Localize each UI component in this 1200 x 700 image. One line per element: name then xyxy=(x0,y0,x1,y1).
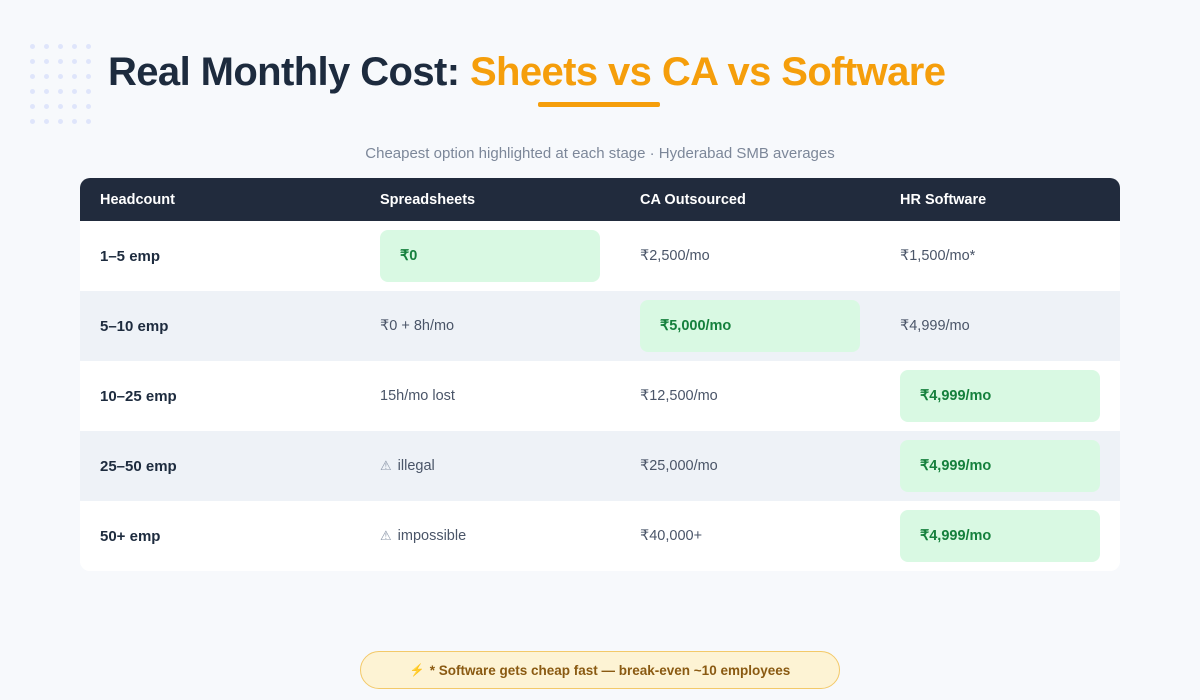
cell-spreadsheets: 15h/mo lost xyxy=(360,388,620,404)
cell-text: ₹0 + 8h/mo xyxy=(380,318,454,334)
dot xyxy=(30,104,35,109)
table-row: 25–50 emp⚠illegal₹25,000/mo₹4,999/mo xyxy=(80,431,1120,501)
warning-triangle-icon: ⚠ xyxy=(380,458,392,473)
table-row: 10–25 emp15h/mo lost₹12,500/mo₹4,999/mo xyxy=(80,361,1120,431)
column-header-hr-software: HR Software xyxy=(880,192,1120,208)
dot xyxy=(58,119,63,124)
cell-spreadsheets: ₹0 xyxy=(360,230,620,282)
dot xyxy=(72,89,77,94)
dot xyxy=(86,44,91,49)
cell-hr_software: ₹4,999/mo xyxy=(880,510,1120,562)
footer-note-badge: ⚡ * Software gets cheap fast — break-eve… xyxy=(360,651,840,689)
dot xyxy=(72,119,77,124)
warning-triangle-icon: ⚠ xyxy=(380,528,392,543)
cell-hr_software: ₹4,999/mo xyxy=(880,370,1120,422)
dot xyxy=(44,74,49,79)
cell-text: 50+ emp xyxy=(100,528,160,545)
dot xyxy=(30,74,35,79)
dot xyxy=(86,74,91,79)
lightning-bolt-icon: ⚡ xyxy=(410,663,425,677)
cell-text: ₹4,999/mo xyxy=(900,318,970,334)
cell-text: impossible xyxy=(398,528,467,544)
dot xyxy=(72,74,77,79)
cell-text: ₹2,500/mo xyxy=(640,248,710,264)
cell-hr_software: ₹1,500/mo* xyxy=(880,248,1120,264)
page-subtitle: Cheapest option highlighted at each stag… xyxy=(0,145,1200,162)
dot xyxy=(44,104,49,109)
dot xyxy=(58,74,63,79)
cell-headcount: 5–10 emp xyxy=(80,318,360,335)
dot xyxy=(30,89,35,94)
cheapest-highlight-pill: ₹5,000/mo xyxy=(640,300,860,352)
cell-text: 15h/mo lost xyxy=(380,388,455,404)
dot xyxy=(30,44,35,49)
title-underline-bar xyxy=(538,102,660,107)
table-header-row: Headcount Spreadsheets CA Outsourced HR … xyxy=(80,178,1120,221)
dot xyxy=(86,59,91,64)
cell-spreadsheets: ⚠illegal xyxy=(360,458,620,474)
infographic-page: Real Monthly Cost: Sheets vs CA vs Softw… xyxy=(0,0,1200,700)
cost-comparison-table: Headcount Spreadsheets CA Outsourced HR … xyxy=(80,178,1120,571)
dot xyxy=(86,119,91,124)
cell-spreadsheets: ₹0 + 8h/mo xyxy=(360,318,620,334)
page-title-main: Real Monthly Cost: xyxy=(108,50,459,94)
cell-text: 5–10 emp xyxy=(100,318,168,335)
column-header-ca-outsourced: CA Outsourced xyxy=(620,192,880,208)
cell-text: ₹1,500/mo* xyxy=(900,248,975,264)
cell-hr_software: ₹4,999/mo xyxy=(880,440,1120,492)
cell-text: 25–50 emp xyxy=(100,458,177,475)
dot xyxy=(58,89,63,94)
cell-ca_outsourced: ₹25,000/mo xyxy=(620,458,880,474)
cheapest-highlight-pill: ₹4,999/mo xyxy=(900,440,1100,492)
cell-headcount: 25–50 emp xyxy=(80,458,360,475)
dot xyxy=(58,59,63,64)
dot xyxy=(44,89,49,94)
cell-headcount: 10–25 emp xyxy=(80,388,360,405)
dot xyxy=(30,119,35,124)
cell-ca_outsourced: ₹40,000+ xyxy=(620,528,880,544)
table-body: 1–5 emp₹0₹2,500/mo₹1,500/mo*5–10 emp₹0 +… xyxy=(80,221,1120,571)
dot xyxy=(86,89,91,94)
cheapest-highlight-pill: ₹0 xyxy=(380,230,600,282)
cell-text: ₹40,000+ xyxy=(640,528,702,544)
page-title: Real Monthly Cost: Sheets vs CA vs Softw… xyxy=(108,50,1148,94)
page-title-accent: Sheets vs CA vs Software xyxy=(470,50,945,94)
cell-text: ₹12,500/mo xyxy=(640,388,718,404)
cell-headcount: 50+ emp xyxy=(80,528,360,545)
cell-spreadsheets: ⚠impossible xyxy=(360,528,620,544)
dot xyxy=(72,104,77,109)
decorative-dot-grid xyxy=(30,44,100,134)
dot xyxy=(44,44,49,49)
dot xyxy=(44,119,49,124)
cell-text: illegal xyxy=(398,458,435,474)
dot xyxy=(72,59,77,64)
cell-headcount: 1–5 emp xyxy=(80,248,360,265)
cell-ca_outsourced: ₹12,500/mo xyxy=(620,388,880,404)
dot xyxy=(30,59,35,64)
cell-text: 10–25 emp xyxy=(100,388,177,405)
cell-text: 1–5 emp xyxy=(100,248,160,265)
dot xyxy=(58,104,63,109)
cheapest-highlight-pill: ₹4,999/mo xyxy=(900,370,1100,422)
dot xyxy=(86,104,91,109)
cell-ca_outsourced: ₹2,500/mo xyxy=(620,248,880,264)
cell-hr_software: ₹4,999/mo xyxy=(880,318,1120,334)
table-row: 5–10 emp₹0 + 8h/mo₹5,000/mo₹4,999/mo xyxy=(80,291,1120,361)
footer-note-text: * Software gets cheap fast — break-even … xyxy=(430,663,791,678)
cheapest-highlight-pill: ₹4,999/mo xyxy=(900,510,1100,562)
cell-ca_outsourced: ₹5,000/mo xyxy=(620,300,880,352)
cell-text: ₹25,000/mo xyxy=(640,458,718,474)
table-row: 50+ emp⚠impossible₹40,000+₹4,999/mo xyxy=(80,501,1120,571)
column-header-headcount: Headcount xyxy=(80,192,360,208)
dot xyxy=(72,44,77,49)
column-header-spreadsheets: Spreadsheets xyxy=(360,192,620,208)
dot xyxy=(44,59,49,64)
dot xyxy=(58,44,63,49)
table-row: 1–5 emp₹0₹2,500/mo₹1,500/mo* xyxy=(80,221,1120,291)
